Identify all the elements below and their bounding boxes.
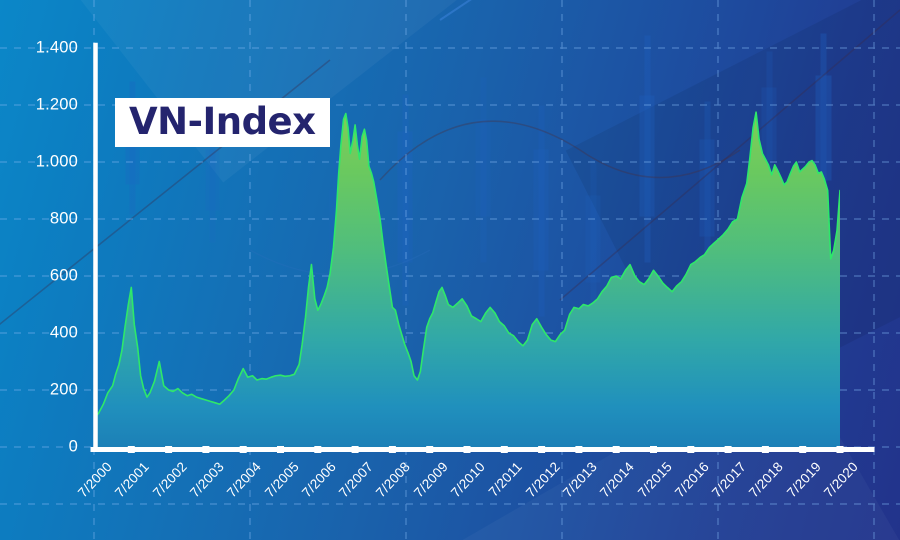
x-axis-tick-mark (464, 446, 471, 453)
x-axis-tick-mark (725, 446, 732, 453)
y-axis-tick-label: 1.000 (8, 153, 78, 172)
x-axis-tick-mark (202, 446, 209, 453)
x-axis-tick-mark (762, 446, 769, 453)
x-axis-tick-mark (575, 446, 582, 453)
x-axis-tick-mark (277, 446, 284, 453)
x-axis-tick-mark (538, 446, 545, 453)
x-axis-tick-mark (799, 446, 806, 453)
x-axis-tick-mark (426, 446, 433, 453)
x-axis-tick-mark (837, 446, 844, 453)
y-axis-tick-label: 1.200 (8, 96, 78, 115)
x-axis-tick-mark (650, 446, 657, 453)
y-axis-tick-label: 400 (8, 324, 78, 343)
y-axis-tick-label: 800 (8, 210, 78, 229)
x-axis-tick-mark (128, 446, 135, 453)
x-axis-tick-mark (501, 446, 508, 453)
x-axis-tick-mark (352, 446, 359, 453)
x-axis-tick-mark (613, 446, 620, 453)
y-axis-tick-label: 200 (8, 381, 78, 400)
y-axis-tick-label: 600 (8, 267, 78, 286)
x-axis-tick-mark (165, 446, 172, 453)
y-axis-tick-label: 1.400 (8, 39, 78, 58)
x-axis-tick-mark (389, 446, 396, 453)
chart-title-badge: VN-Index (115, 98, 330, 147)
chart-svg (0, 0, 900, 540)
y-axis-tick-label: 0 (8, 438, 78, 457)
x-axis-tick-mark (314, 446, 321, 453)
chart-canvas: 02004006008001.0001.2001.400 7/20007/200… (0, 0, 900, 540)
x-axis-tick-mark (240, 446, 247, 453)
page-title: VN-Index (129, 103, 316, 140)
x-axis-tick-mark (687, 446, 694, 453)
